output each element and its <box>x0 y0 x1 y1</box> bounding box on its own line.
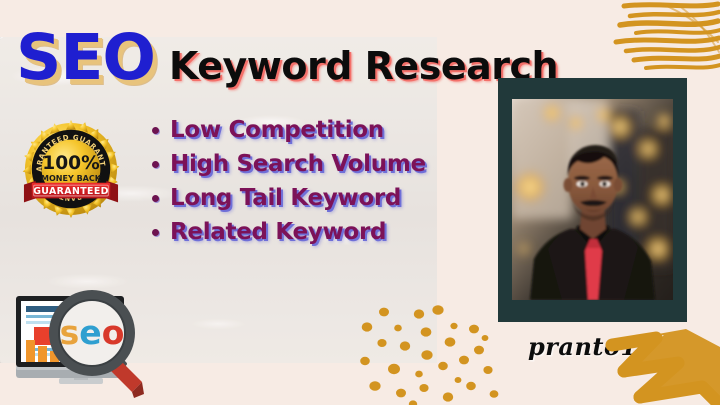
list-item: Low Competition <box>152 118 426 142</box>
feature-list: Low Competition High Search Volume Long … <box>152 118 426 255</box>
seo-monitor-magnifier-illustration: seo <box>4 278 184 400</box>
photo-frame <box>498 78 687 322</box>
gold-dot-scatter-decoration <box>358 298 508 405</box>
svg-text:GUARANTEED: GUARANTEED <box>33 186 109 197</box>
magnifier-icon: seo <box>49 290 135 376</box>
bullet-dot-icon <box>152 195 159 202</box>
seo-lens-text: seo <box>60 313 125 352</box>
profile-photo <box>512 99 673 300</box>
list-item: High Search Volume <box>152 152 426 176</box>
bullet-dot-icon <box>152 229 159 236</box>
list-item-label: Related Keyword <box>170 220 386 244</box>
list-item: Related Keyword <box>152 220 426 244</box>
list-item: Long Tail Keyword <box>152 186 426 210</box>
badge-percent: 100% <box>42 153 100 174</box>
list-item-label: Long Tail Keyword <box>170 186 401 210</box>
title-seo: SEO <box>16 26 155 89</box>
page-title: SEO Keyword Research <box>16 26 558 89</box>
thumbnail-canvas: SEO Keyword Research <box>0 0 720 405</box>
bullet-dot-icon <box>152 127 159 134</box>
gold-zigzag-decoration <box>590 327 720 405</box>
bullet-dot-icon <box>152 161 159 168</box>
guarantee-badge-icon: GUARANTEED GUARANTEED GUARANTEED 100% MO… <box>22 120 120 218</box>
list-item-label: High Search Volume <box>170 152 426 176</box>
money-back-guarantee-badge: GUARANTEED GUARANTEED GUARANTEED 100% MO… <box>22 120 120 218</box>
gold-scribble-decoration <box>590 0 720 78</box>
badge-subtitle: MONEY BACK <box>41 174 102 183</box>
list-item-label: Low Competition <box>170 118 384 142</box>
